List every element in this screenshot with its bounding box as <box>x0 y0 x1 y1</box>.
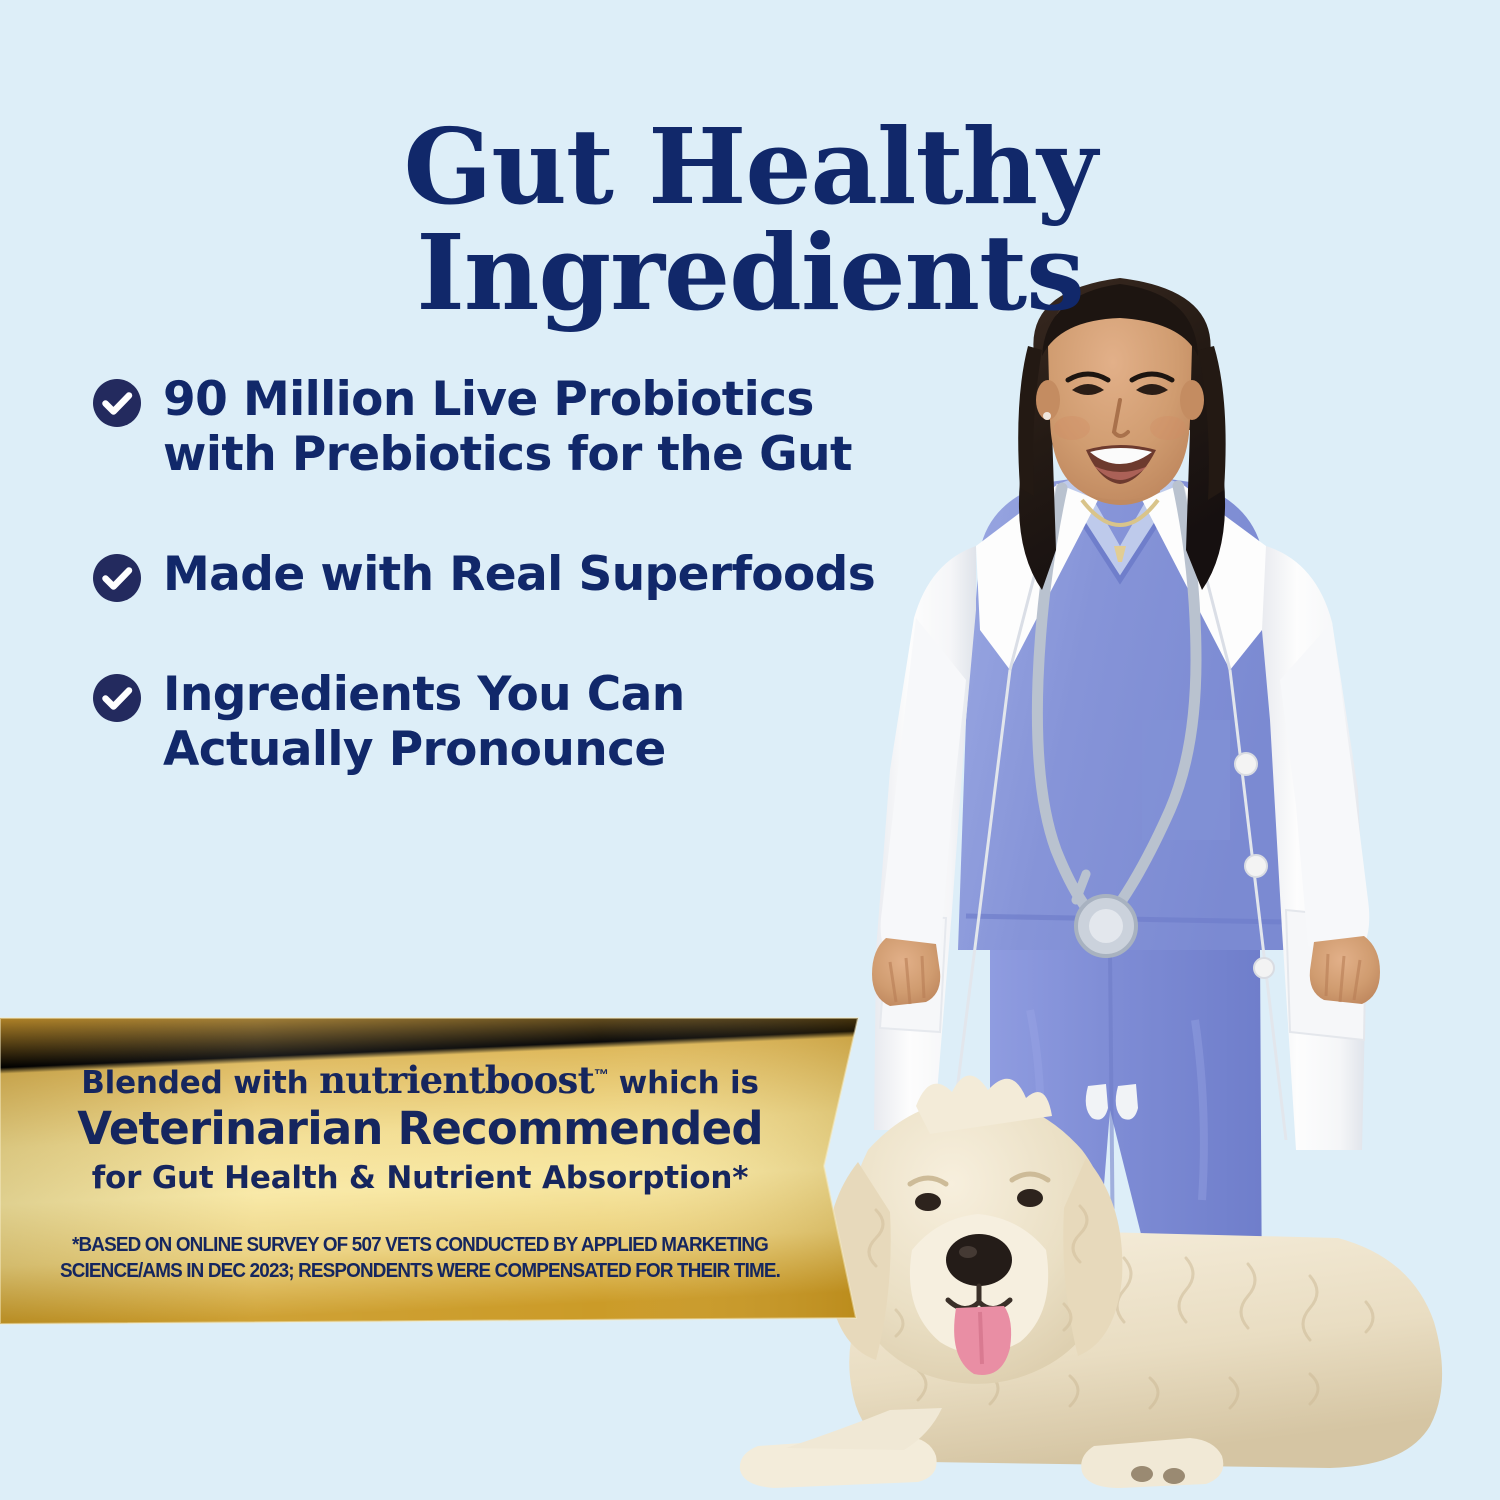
headline-line-2: Ingredients <box>0 220 1500 326</box>
benefit-line: Ingredients You Can <box>163 667 685 722</box>
banner-line-1: Blended with nutrientboost™ which is <box>0 1058 840 1102</box>
trademark-symbol: ™ <box>594 1067 608 1084</box>
benefit-line: with Prebiotics for the Gut <box>163 427 852 482</box>
promo-image: Gut Healthy Ingredients 90 Million Live … <box>0 0 1500 1500</box>
check-circle-icon <box>92 553 142 603</box>
benefits-list: 90 Million Live Probiotics with Prebioti… <box>92 372 972 778</box>
headline-line-1: Gut Healthy <box>403 105 1096 228</box>
disclaimer-line: *BASED ON ONLINE SURVEY OF 507 VETS COND… <box>34 1232 807 1258</box>
benefit-text: Made with Real Superfoods <box>163 547 875 602</box>
banner-line-1-prefix: Blended with <box>81 1065 319 1101</box>
benefit-text: 90 Million Live Probiotics with Prebioti… <box>163 372 852 483</box>
list-item: Ingredients You Can Actually Pronounce <box>92 667 972 778</box>
banner-line-3: for Gut Health & Nutrient Absorption* <box>0 1160 840 1196</box>
nutrientboost-logo: nutrientboost™ <box>319 1058 608 1102</box>
benefit-line: Made with Real Superfoods <box>163 547 875 602</box>
benefit-line: Actually Pronounce <box>163 722 685 777</box>
list-item: 90 Million Live Probiotics with Prebioti… <box>92 372 972 483</box>
banner-disclaimer: *BASED ON ONLINE SURVEY OF 507 VETS COND… <box>34 1232 807 1284</box>
brand-name: nutrientboost <box>319 1058 594 1102</box>
banner-headline: Veterinarian Recommended <box>0 1102 840 1155</box>
page-title: Gut Healthy Ingredients <box>0 114 1500 326</box>
banner-line-1-suffix: which is <box>608 1065 759 1101</box>
check-circle-icon <box>92 378 142 428</box>
disclaimer-line: SCIENCE/AMS IN DEC 2023; RESPONDENTS WER… <box>34 1258 807 1284</box>
check-circle-icon <box>92 673 142 723</box>
benefit-text: Ingredients You Can Actually Pronounce <box>163 667 685 778</box>
list-item: Made with Real Superfoods <box>92 547 972 603</box>
vet-recommended-banner: Blended with nutrientboost™ which is Vet… <box>0 1014 900 1328</box>
benefit-line: 90 Million Live Probiotics <box>163 372 852 427</box>
